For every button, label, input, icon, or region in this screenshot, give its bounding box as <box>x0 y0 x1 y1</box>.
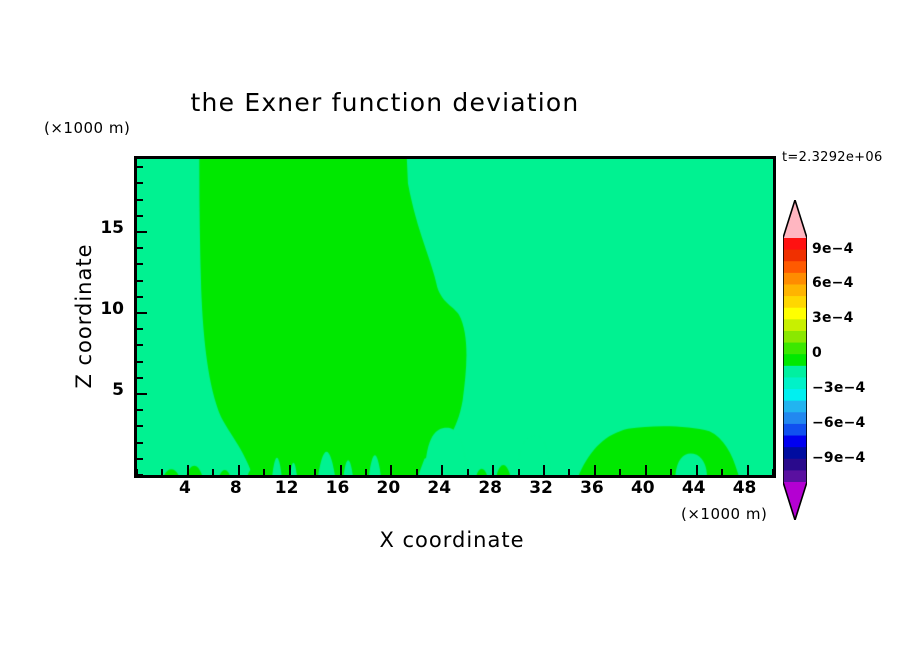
x-tick-label: 8 <box>216 478 256 498</box>
x-tick <box>645 465 647 475</box>
timestamp-label: t=2.3292e+06 <box>782 150 883 165</box>
colorbar-band <box>783 401 807 413</box>
colorbar-max-arrow <box>783 200 807 238</box>
x-tick <box>594 465 596 475</box>
y-tick <box>137 328 143 330</box>
x-tick <box>568 469 570 475</box>
x-tick <box>670 469 672 475</box>
x-axis-unit-label: (×1000 m) <box>681 505 767 523</box>
x-tick <box>187 465 189 475</box>
x-tick <box>314 469 316 475</box>
contour-field <box>137 159 773 475</box>
x-tick <box>416 469 418 475</box>
colorbar-band <box>783 366 807 378</box>
x-tick <box>441 465 443 475</box>
colorbar-band <box>783 389 807 401</box>
colorbar-band <box>783 459 807 471</box>
x-tick <box>518 469 520 475</box>
y-tick <box>137 442 143 444</box>
colorbar-label: −6e−4 <box>812 415 865 431</box>
y-tick-label: 15 <box>94 218 124 238</box>
colorbar-band <box>783 424 807 436</box>
colorbar-gradient <box>783 200 807 520</box>
y-tick <box>137 409 143 411</box>
x-tick-label: 44 <box>674 478 714 498</box>
colorbar-band <box>783 447 807 459</box>
x-tick <box>390 465 392 475</box>
x-tick <box>492 465 494 475</box>
x-tick <box>365 469 367 475</box>
colorbar-band <box>783 377 807 389</box>
x-tick <box>289 465 291 475</box>
x-tick-label: 48 <box>725 478 765 498</box>
y-tick <box>137 215 143 217</box>
y-tick <box>137 312 147 314</box>
x-tick <box>263 469 265 475</box>
y-tick <box>137 296 143 298</box>
y-tick <box>137 166 143 168</box>
x-tick-label: 24 <box>419 478 459 498</box>
colorbar-band <box>783 308 807 320</box>
y-tick <box>137 458 143 460</box>
y-tick <box>137 199 143 201</box>
colorbar <box>783 200 807 520</box>
colorbar-label: −9e−4 <box>812 450 865 466</box>
colorbar-band <box>783 273 807 285</box>
y-tick <box>137 280 143 282</box>
y-tick <box>137 182 143 184</box>
x-tick-label: 20 <box>368 478 408 498</box>
colorbar-band <box>783 238 807 250</box>
x-tick-label: 36 <box>572 478 612 498</box>
colorbar-label: 0 <box>812 345 822 361</box>
y-tick-label: 5 <box>94 380 124 400</box>
x-tick-label: 40 <box>623 478 663 498</box>
y-tick <box>137 393 147 395</box>
x-tick <box>696 465 698 475</box>
y-tick <box>137 425 143 427</box>
colorbar-label: 3e−4 <box>812 310 854 326</box>
y-tick-label: 10 <box>94 299 124 319</box>
colorbar-band <box>783 250 807 262</box>
y-axis-unit-label: (×1000 m) <box>44 119 130 137</box>
x-tick <box>747 465 749 475</box>
x-tick <box>467 469 469 475</box>
x-tick <box>721 469 723 475</box>
colorbar-band <box>783 470 807 482</box>
y-axis-title: Z coordinate <box>72 206 96 426</box>
colorbar-label: −3e−4 <box>812 380 865 396</box>
colorbar-band <box>783 284 807 296</box>
x-tick <box>619 469 621 475</box>
x-tick-label: 4 <box>165 478 205 498</box>
x-tick-label: 16 <box>318 478 358 498</box>
x-tick-label: 12 <box>267 478 307 498</box>
x-tick-label: 32 <box>521 478 561 498</box>
colorbar-min-arrow <box>783 482 807 520</box>
colorbar-label: 6e−4 <box>812 275 854 291</box>
colorbar-band <box>783 296 807 308</box>
y-tick <box>137 361 143 363</box>
x-tick <box>772 469 774 475</box>
colorbar-band <box>783 319 807 331</box>
y-tick <box>137 377 143 379</box>
x-tick <box>161 469 163 475</box>
colorbar-band <box>783 412 807 424</box>
colorbar-band <box>783 354 807 366</box>
x-axis-title: X coordinate <box>134 528 770 552</box>
x-tick-label: 28 <box>470 478 510 498</box>
y-tick <box>137 263 143 265</box>
colorbar-band <box>783 436 807 448</box>
page-title: the Exner function deviation <box>0 88 770 117</box>
x-tick <box>340 465 342 475</box>
colorbar-band <box>783 343 807 355</box>
colorbar-band <box>783 261 807 273</box>
contour-plot-area <box>134 156 776 478</box>
y-tick <box>137 474 143 476</box>
y-tick <box>137 231 147 233</box>
x-tick <box>212 469 214 475</box>
y-tick <box>137 247 143 249</box>
colorbar-label: 9e−4 <box>812 241 854 257</box>
x-tick <box>543 465 545 475</box>
y-tick <box>137 344 143 346</box>
colorbar-band <box>783 331 807 343</box>
x-tick <box>238 465 240 475</box>
figure-root: the Exner function deviation (×1000 m) (… <box>0 0 904 654</box>
